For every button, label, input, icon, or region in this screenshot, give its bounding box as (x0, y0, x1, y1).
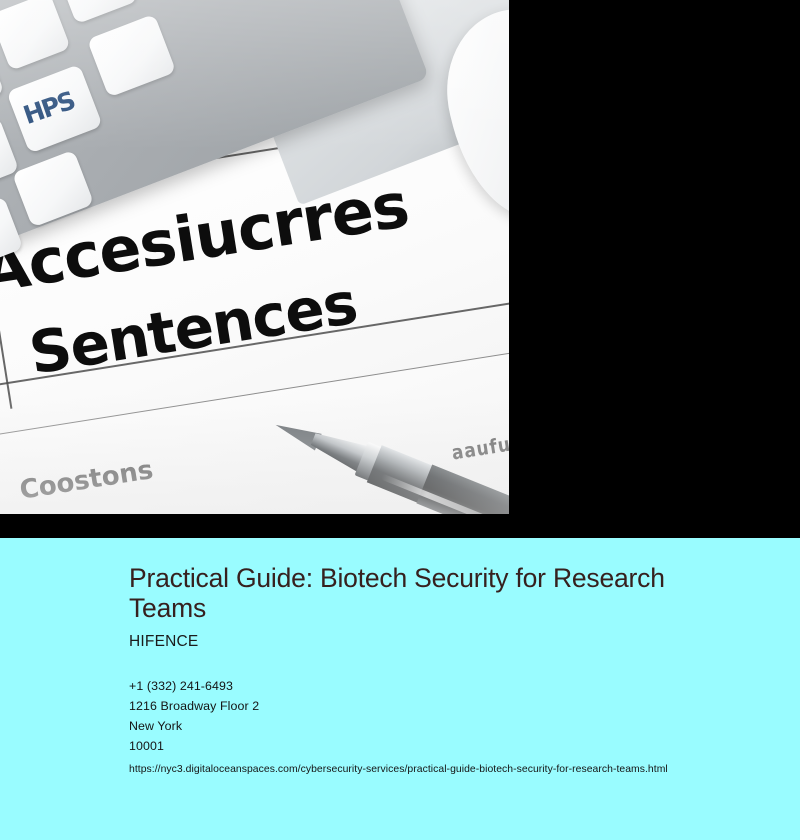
info-panel: Practical Guide: Biotech Security for Re… (0, 538, 800, 840)
keyboard-key (87, 14, 176, 98)
contact-city: New York (129, 716, 769, 736)
hero-photo: Accesiucrres Sentences Coostons aaufuli … (0, 0, 509, 514)
page-title: Practical Guide: Biotech Security for Re… (129, 563, 669, 623)
hero-band: Accesiucrres Sentences Coostons aaufuli … (0, 0, 800, 538)
keyboard-key (0, 0, 71, 71)
document-url[interactable]: https://nyc3.digitaloceanspaces.com/cybe… (129, 763, 769, 777)
contact-address-line1: 1216 Broadway Floor 2 (129, 696, 769, 716)
info-content: Practical Guide: Biotech Security for Re… (129, 563, 769, 777)
contact-block: +1 (332) 241-6493 1216 Broadway Floor 2 … (129, 676, 769, 777)
contact-postal-code: 10001 (129, 736, 769, 756)
brand-name: HIFENCE (129, 632, 769, 651)
keyboard-key (55, 0, 138, 24)
contact-phone: +1 (332) 241-6493 (129, 676, 769, 696)
page-root: Accesiucrres Sentences Coostons aaufuli … (0, 0, 800, 840)
